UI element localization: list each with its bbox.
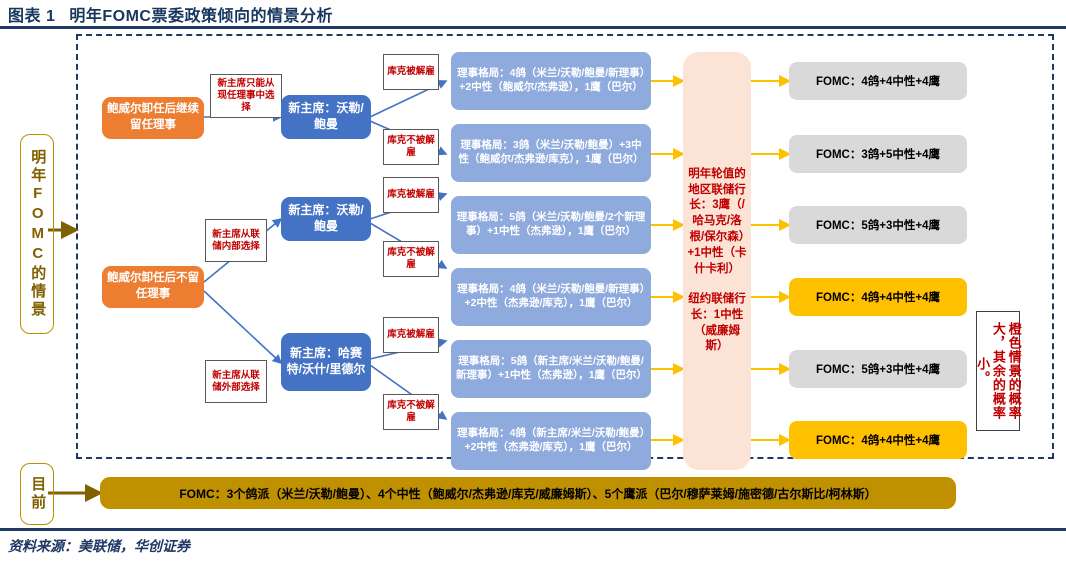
page-title: 图表 1明年FOMC票委政策倾向的情景分析: [8, 2, 1058, 26]
note-fed-internal: 新主席从联储内部选择: [205, 219, 267, 262]
cook-note-fired-2: 库克被解雇: [383, 177, 439, 213]
diagram-canvas: 明年FOMC的情景 目前 鲍威尔卸任后继续留任理事 鲍威尔卸任后不留任理事 新主…: [0, 29, 1066, 528]
current-state-bar: FOMC：3个鸽派（米兰/沃勒/鲍曼）、4个中性（鲍威尔/杰弗逊/库克/威廉姆斯…: [100, 477, 956, 509]
cook-note-kept-1: 库克不被解雇: [383, 129, 439, 165]
rail-current-label: 目前: [20, 463, 54, 525]
board-box-6[interactable]: 理事格局：4鸽（新主席/米兰/沃勒/鲍曼）+2中性（杰弗逊/库克），1鹰（巴尔）: [451, 412, 651, 470]
figure-title-text: 明年FOMC票委政策倾向的情景分析: [69, 8, 333, 25]
result-box-5[interactable]: FOMC：5鸽+3中性+4鹰: [789, 350, 967, 388]
rail-scenario-label: 明年FOMC的情景: [20, 134, 54, 334]
cook-note-fired-1: 库克被解雇: [383, 54, 439, 90]
chair-box-3[interactable]: 新主席：哈赛特/沃什/里德尔: [281, 333, 371, 391]
chair-box-2[interactable]: 新主席：沃勒/鲍曼: [281, 197, 371, 241]
source-divider: [0, 528, 1066, 531]
scenario-box-stay[interactable]: 鲍威尔卸任后继续留任理事: [102, 97, 204, 139]
result-box-4[interactable]: FOMC：4鸽+4中性+4鹰: [789, 278, 967, 316]
board-box-1[interactable]: 理事格局：4鸽（米兰/沃勒/鲍曼/新理事）+2中性（鲍威尔/杰弗逊），1鹰（巴尔…: [451, 52, 651, 110]
board-box-3[interactable]: 理事格局：5鸽（米兰/沃勒/鲍曼/2个新理事）+1中性（杰弗逊），1鹰（巴尔）: [451, 196, 651, 254]
source-note: 资料来源：美联储，华创证券: [8, 536, 608, 558]
result-box-1[interactable]: FOMC：4鸽+4中性+4鹰: [789, 62, 967, 100]
rotating-presidents-text: 明年轮值的地区联储行长：3鹰（/哈马克/洛根/保尔森）+1中性（卡什卡利）: [687, 167, 747, 278]
note-fed-external: 新主席从联储外部选择: [205, 360, 267, 403]
ny-president-text: 纽约联储行长：1中性（威廉姆斯）: [687, 292, 747, 355]
scenario-box-leave[interactable]: 鲍威尔卸任后不留任理事: [102, 266, 204, 308]
result-box-3[interactable]: FOMC：5鸽+3中性+4鹰: [789, 206, 967, 244]
result-box-6[interactable]: FOMC：4鸽+4中性+4鹰: [789, 421, 967, 459]
result-box-2[interactable]: FOMC：3鸽+5中性+4鹰: [789, 135, 967, 173]
regional-presidents-column: 明年轮值的地区联储行长：3鹰（/哈马克/洛根/保尔森）+1中性（卡什卡利） 纽约…: [683, 52, 751, 470]
board-box-5[interactable]: 理事格局：5鸽（新主席/米兰/沃勒/鲍曼/新理事）+1中性（杰弗逊），1鹰（巴尔…: [451, 340, 651, 398]
chair-box-1[interactable]: 新主席：沃勒/鲍曼: [281, 95, 371, 139]
note-internal-only: 新主席只能从现任理事中选择: [210, 74, 282, 118]
cook-note-fired-3: 库克被解雇: [383, 317, 439, 353]
board-box-4[interactable]: 理事格局：4鸽（米兰/沃勒/鲍曼/新理事）+2中性（杰弗逊/库克），1鹰（巴尔）: [451, 268, 651, 326]
cook-note-kept-3: 库克不被解雇: [383, 394, 439, 430]
probability-note: 橙色情景的概率大，其余的概率小。: [976, 311, 1020, 431]
figure-label: 图表 1: [8, 8, 55, 25]
cook-note-kept-2: 库克不被解雇: [383, 241, 439, 277]
board-box-2[interactable]: 理事格局：3鸽（米兰/沃勒/鲍曼）+3中性（鲍威尔/杰弗逊/库克），1鹰（巴尔）: [451, 124, 651, 182]
